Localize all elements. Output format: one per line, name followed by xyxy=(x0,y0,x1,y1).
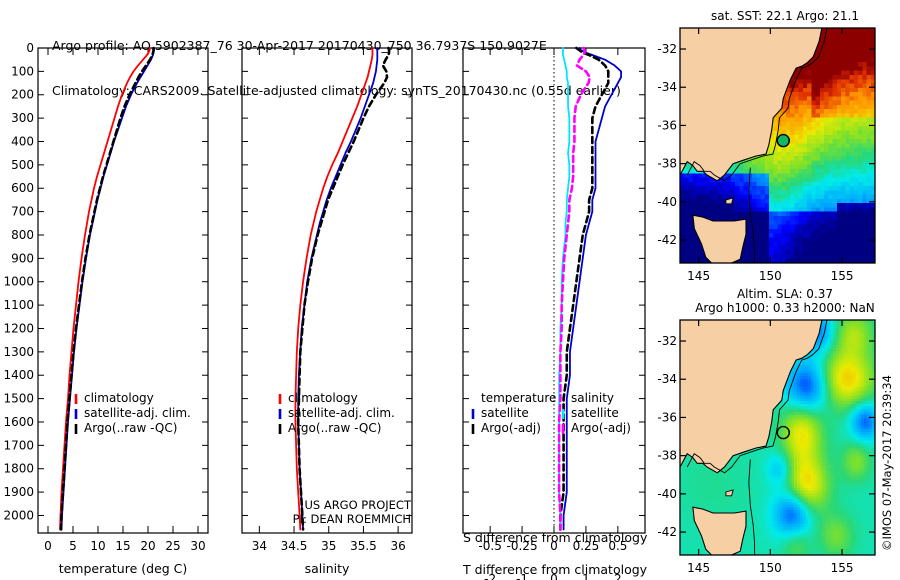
svg-text:150: 150 xyxy=(759,269,782,283)
pi-label: PI: DEAN ROEMMICH xyxy=(293,512,411,526)
svg-text:Argo(-adj): Argo(-adj) xyxy=(571,421,631,435)
imos-copyright-label: ©IMOS 07-May-2017 20:39:34 xyxy=(880,375,894,551)
svg-text:1700: 1700 xyxy=(3,438,34,452)
t-difference-axis-label: T difference from climatology xyxy=(462,562,648,577)
difference-curves xyxy=(559,48,621,529)
svg-text:30: 30 xyxy=(190,539,205,553)
svg-text:35: 35 xyxy=(321,539,336,553)
sst-map: sat. SST: 22.1 Argo: 21.1 145150155-32-3… xyxy=(655,6,900,296)
svg-text:1600: 1600 xyxy=(3,415,34,429)
svg-text:temperature: temperature xyxy=(481,391,556,405)
temperature-curves xyxy=(60,48,154,529)
svg-text:Argo(..raw -QC): Argo(..raw -QC) xyxy=(288,421,381,435)
svg-text:1200: 1200 xyxy=(3,321,34,335)
temperature-y-ticks: 0100200300400500600700800900100011001200… xyxy=(3,41,208,522)
temperature-legend: climatologysatellite-adj. clim.Argo(..ra… xyxy=(76,391,191,435)
svg-text:34: 34 xyxy=(252,539,267,553)
difference-s-ticks: -0.5-0.2500.250.5 xyxy=(478,48,627,553)
svg-text:climatology: climatology xyxy=(84,391,154,405)
temperature-x-axis-label: temperature (deg C) xyxy=(59,561,188,576)
svg-text:-36: -36 xyxy=(657,118,677,132)
svg-text:Argo(-adj): Argo(-adj) xyxy=(481,421,541,435)
salinity-x-axis-label: salinity xyxy=(305,561,350,576)
svg-text:10: 10 xyxy=(90,539,105,553)
salinity-y-ticks xyxy=(242,48,412,515)
s-difference-axis-label: S difference from climatology xyxy=(463,530,648,545)
svg-text:satellite: satellite xyxy=(571,406,619,420)
svg-text:1100: 1100 xyxy=(3,298,34,312)
svg-text:500: 500 xyxy=(11,158,34,172)
svg-text:-40: -40 xyxy=(657,195,677,209)
svg-text:100: 100 xyxy=(11,64,34,78)
svg-text:-34: -34 xyxy=(657,80,677,94)
svg-text:600: 600 xyxy=(11,181,34,195)
svg-text:400: 400 xyxy=(11,134,34,148)
temperature-x-ticks: 051015202530 xyxy=(44,48,205,553)
svg-text:Argo(..raw -QC): Argo(..raw -QC) xyxy=(84,421,177,435)
svg-text:20: 20 xyxy=(140,539,155,553)
svg-text:155: 155 xyxy=(831,269,854,283)
salinity-plot-frame xyxy=(242,48,412,533)
svg-text:300: 300 xyxy=(11,111,34,125)
svg-text:1800: 1800 xyxy=(3,462,34,476)
svg-text:-38: -38 xyxy=(657,157,677,171)
salinity-panel: 3434.53535.536 salinity climatologysatel… xyxy=(230,40,455,580)
svg-text:climatology: climatology xyxy=(288,391,358,405)
sla-map-title-line1: Altim. SLA: 0.37 xyxy=(737,287,833,301)
svg-text:800: 800 xyxy=(11,228,34,242)
sla-map-title-line2: Argo h1000: 0.33 h2000: NaN xyxy=(695,301,875,315)
svg-text:salinity: salinity xyxy=(571,391,614,405)
svg-text:1900: 1900 xyxy=(3,485,34,499)
svg-text:34.5: 34.5 xyxy=(281,539,308,553)
temperature-panel: 0100200300400500600700800900100011001200… xyxy=(0,40,230,580)
us-argo-project-label: US ARGO PROJECT xyxy=(304,498,412,512)
svg-text:-32: -32 xyxy=(657,42,677,56)
svg-text:0: 0 xyxy=(26,41,34,55)
difference-legend: temperaturesalinitysatelliteArgo(-adj)sa… xyxy=(473,391,631,435)
svg-text:35.5: 35.5 xyxy=(350,539,377,553)
sla-map: Altim. SLA: 0.37 Argo h1000: 0.33 h2000:… xyxy=(655,286,900,580)
svg-text:900: 900 xyxy=(11,251,34,265)
svg-text:36: 36 xyxy=(390,539,405,553)
svg-text:145: 145 xyxy=(687,269,710,283)
svg-text:satellite-adj. clim.: satellite-adj. clim. xyxy=(288,406,395,420)
svg-text:1500: 1500 xyxy=(3,392,34,406)
svg-text:200: 200 xyxy=(11,88,34,102)
svg-text:1400: 1400 xyxy=(3,368,34,382)
difference-panel: -0.5-0.2500.250.5 -2-1012 S difference f… xyxy=(455,40,670,580)
svg-text:25: 25 xyxy=(165,539,180,553)
sst-map-title: sat. SST: 22.1 Argo: 21.1 xyxy=(711,9,859,23)
salinity-x-ticks: 3434.53535.536 xyxy=(252,48,406,553)
svg-text:satellite-adj. clim.: satellite-adj. clim. xyxy=(84,406,191,420)
argo-float-marker[interactable] xyxy=(777,135,789,147)
svg-text:satellite: satellite xyxy=(481,406,529,420)
svg-text:-42: -42 xyxy=(657,233,677,247)
svg-text:2000: 2000 xyxy=(3,508,34,522)
svg-text:0: 0 xyxy=(44,539,52,553)
svg-text:15: 15 xyxy=(115,539,130,553)
svg-text:1000: 1000 xyxy=(3,275,34,289)
svg-text:5: 5 xyxy=(69,539,77,553)
svg-text:700: 700 xyxy=(11,205,34,219)
svg-text:1300: 1300 xyxy=(3,345,34,359)
salinity-legend: climatologysatellite-adj. clim.Argo(..ra… xyxy=(280,391,395,435)
salinity-curves xyxy=(295,48,389,529)
